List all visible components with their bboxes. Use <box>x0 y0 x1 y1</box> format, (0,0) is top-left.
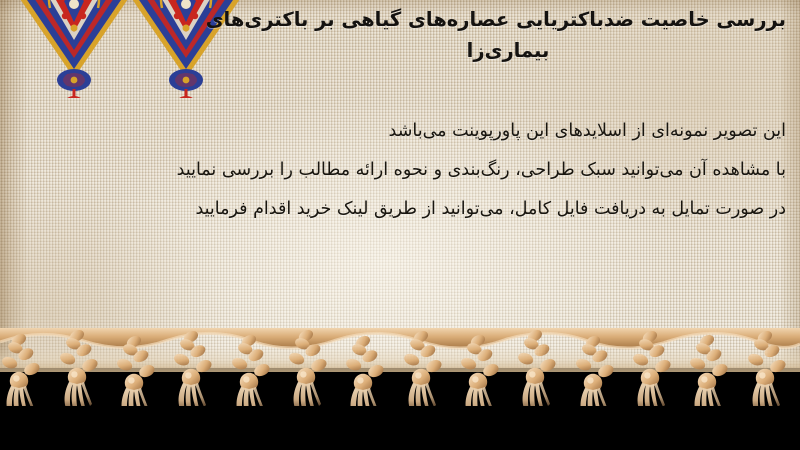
persian-carpet-medallion-icon <box>10 0 138 98</box>
body-line-3: در صورت تمایل به دریافت فایل کامل، می‌تو… <box>14 190 786 229</box>
title-line-2: بیماری‌زا <box>230 35 786 66</box>
body-line-1: این تصویر نمونه‌ای از اسلایدهای این پاور… <box>14 112 786 151</box>
slide-body: این تصویر نمونه‌ای از اسلایدهای این پاور… <box>14 112 786 229</box>
slide-canvas: بررسی خاصیت ضدباکتریایی عصاره‌های گیاهی … <box>0 0 800 450</box>
bottom-black-band <box>0 368 800 450</box>
slide-title: بررسی خاصیت ضدباکتریایی عصاره‌های گیاهی … <box>230 4 786 66</box>
body-line-2: با مشاهده آن می‌توانید سبک طراحی، رنگ‌بن… <box>14 151 786 190</box>
title-line-1: بررسی خاصیت ضدباکتریایی عصاره‌های گیاهی … <box>230 4 786 35</box>
